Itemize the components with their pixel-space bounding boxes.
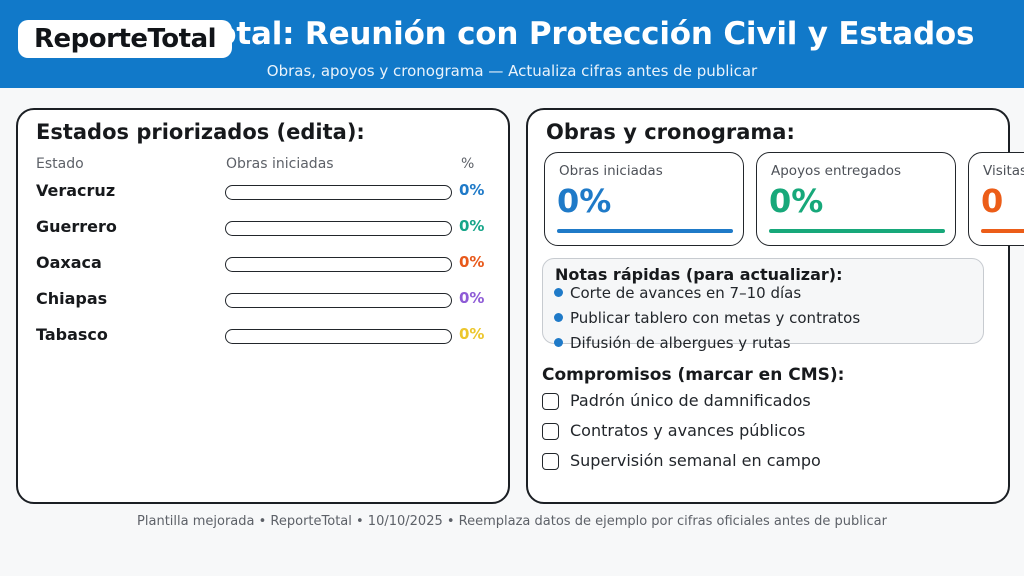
column-header-state: Estado (36, 156, 84, 172)
progress-bar-track[interactable] (225, 257, 452, 272)
page-footer: Plantilla mejorada • ReporteTotal • 10/1… (0, 514, 1024, 529)
progress-bar-track[interactable] (225, 293, 452, 308)
commitment-label: Supervisión semanal en campo (570, 451, 821, 470)
stat-card-underline (981, 229, 1024, 233)
commitment-label: Contratos y avances públicos (570, 421, 805, 440)
table-row: Tabasco0% (18, 320, 508, 356)
percent-label: 0% (459, 325, 484, 343)
states-panel: Estados priorizados (edita): Estado Obra… (16, 108, 510, 504)
note-item: Publicar tablero con metas y contratos (554, 309, 860, 327)
bullet-icon (554, 338, 563, 347)
page-subtitle: Obras, apoyos y cronograma — Actualiza c… (0, 62, 1024, 80)
progress-bar-track[interactable] (225, 329, 452, 344)
stat-card-underline (557, 229, 733, 233)
percent-label: 0% (459, 217, 484, 235)
note-item-label: Corte de avances en 7–10 días (570, 284, 801, 302)
note-item-label: Publicar tablero con metas y contratos (570, 309, 860, 327)
table-row: Guerrero0% (18, 212, 508, 248)
percent-label: 0% (459, 289, 484, 307)
states-panel-title: Estados priorizados (edita): (36, 120, 365, 144)
commitment-label: Padrón único de damnificados (570, 391, 811, 410)
table-row: Veracruz0% (18, 176, 508, 212)
stat-card-label: Obras iniciadas (559, 163, 663, 179)
note-item: Difusión de albergues y rutas (554, 334, 791, 352)
stat-card: Apoyos entregados0% (756, 152, 956, 246)
stat-card-underline (769, 229, 945, 233)
works-panel: Obras y cronograma: Obras iniciadas0%Apo… (526, 108, 1010, 504)
percent-label: 0% (459, 253, 484, 271)
bullet-icon (554, 288, 563, 297)
stat-card-label: Visitas p (983, 163, 1024, 179)
note-item-label: Difusión de albergues y rutas (570, 334, 791, 352)
table-row: Chiapas0% (18, 284, 508, 320)
stat-card: Obras iniciadas0% (544, 152, 744, 246)
works-panel-title: Obras y cronograma: (546, 120, 795, 144)
commitments-title: Compromisos (marcar en CMS): (542, 365, 844, 385)
quick-notes-title: Notas rápidas (para actualizar): (555, 265, 843, 284)
table-row: Oaxaca0% (18, 248, 508, 284)
bullet-icon (554, 313, 563, 322)
state-name: Tabasco (36, 325, 108, 344)
progress-bar-track[interactable] (225, 185, 452, 200)
stat-cards-strip: Obras iniciadas0%Apoyos entregados0%Visi… (544, 152, 1024, 248)
stat-card-label: Apoyos entregados (771, 163, 901, 179)
stat-card-value: 0 (981, 185, 1003, 217)
checkbox-icon[interactable] (542, 453, 559, 470)
percent-label: 0% (459, 181, 484, 199)
progress-bar-track[interactable] (225, 221, 452, 236)
column-header-progress: Obras iniciadas (226, 156, 334, 172)
state-name: Veracruz (36, 181, 115, 200)
state-name: Chiapas (36, 289, 107, 308)
note-item: Corte de avances en 7–10 días (554, 284, 801, 302)
state-name: Guerrero (36, 217, 117, 236)
checkbox-icon[interactable] (542, 393, 559, 410)
stat-card-value: 0% (769, 185, 823, 217)
state-name: Oaxaca (36, 253, 102, 272)
page-header: Reporte Total: Reunión con Protección Ci… (0, 0, 1024, 88)
column-header-percent: % (461, 156, 474, 172)
checkbox-icon[interactable] (542, 423, 559, 440)
stat-card-value: 0% (557, 185, 611, 217)
brand-badge: ReporteTotal (18, 20, 232, 58)
stat-card: Visitas p0 (968, 152, 1024, 246)
